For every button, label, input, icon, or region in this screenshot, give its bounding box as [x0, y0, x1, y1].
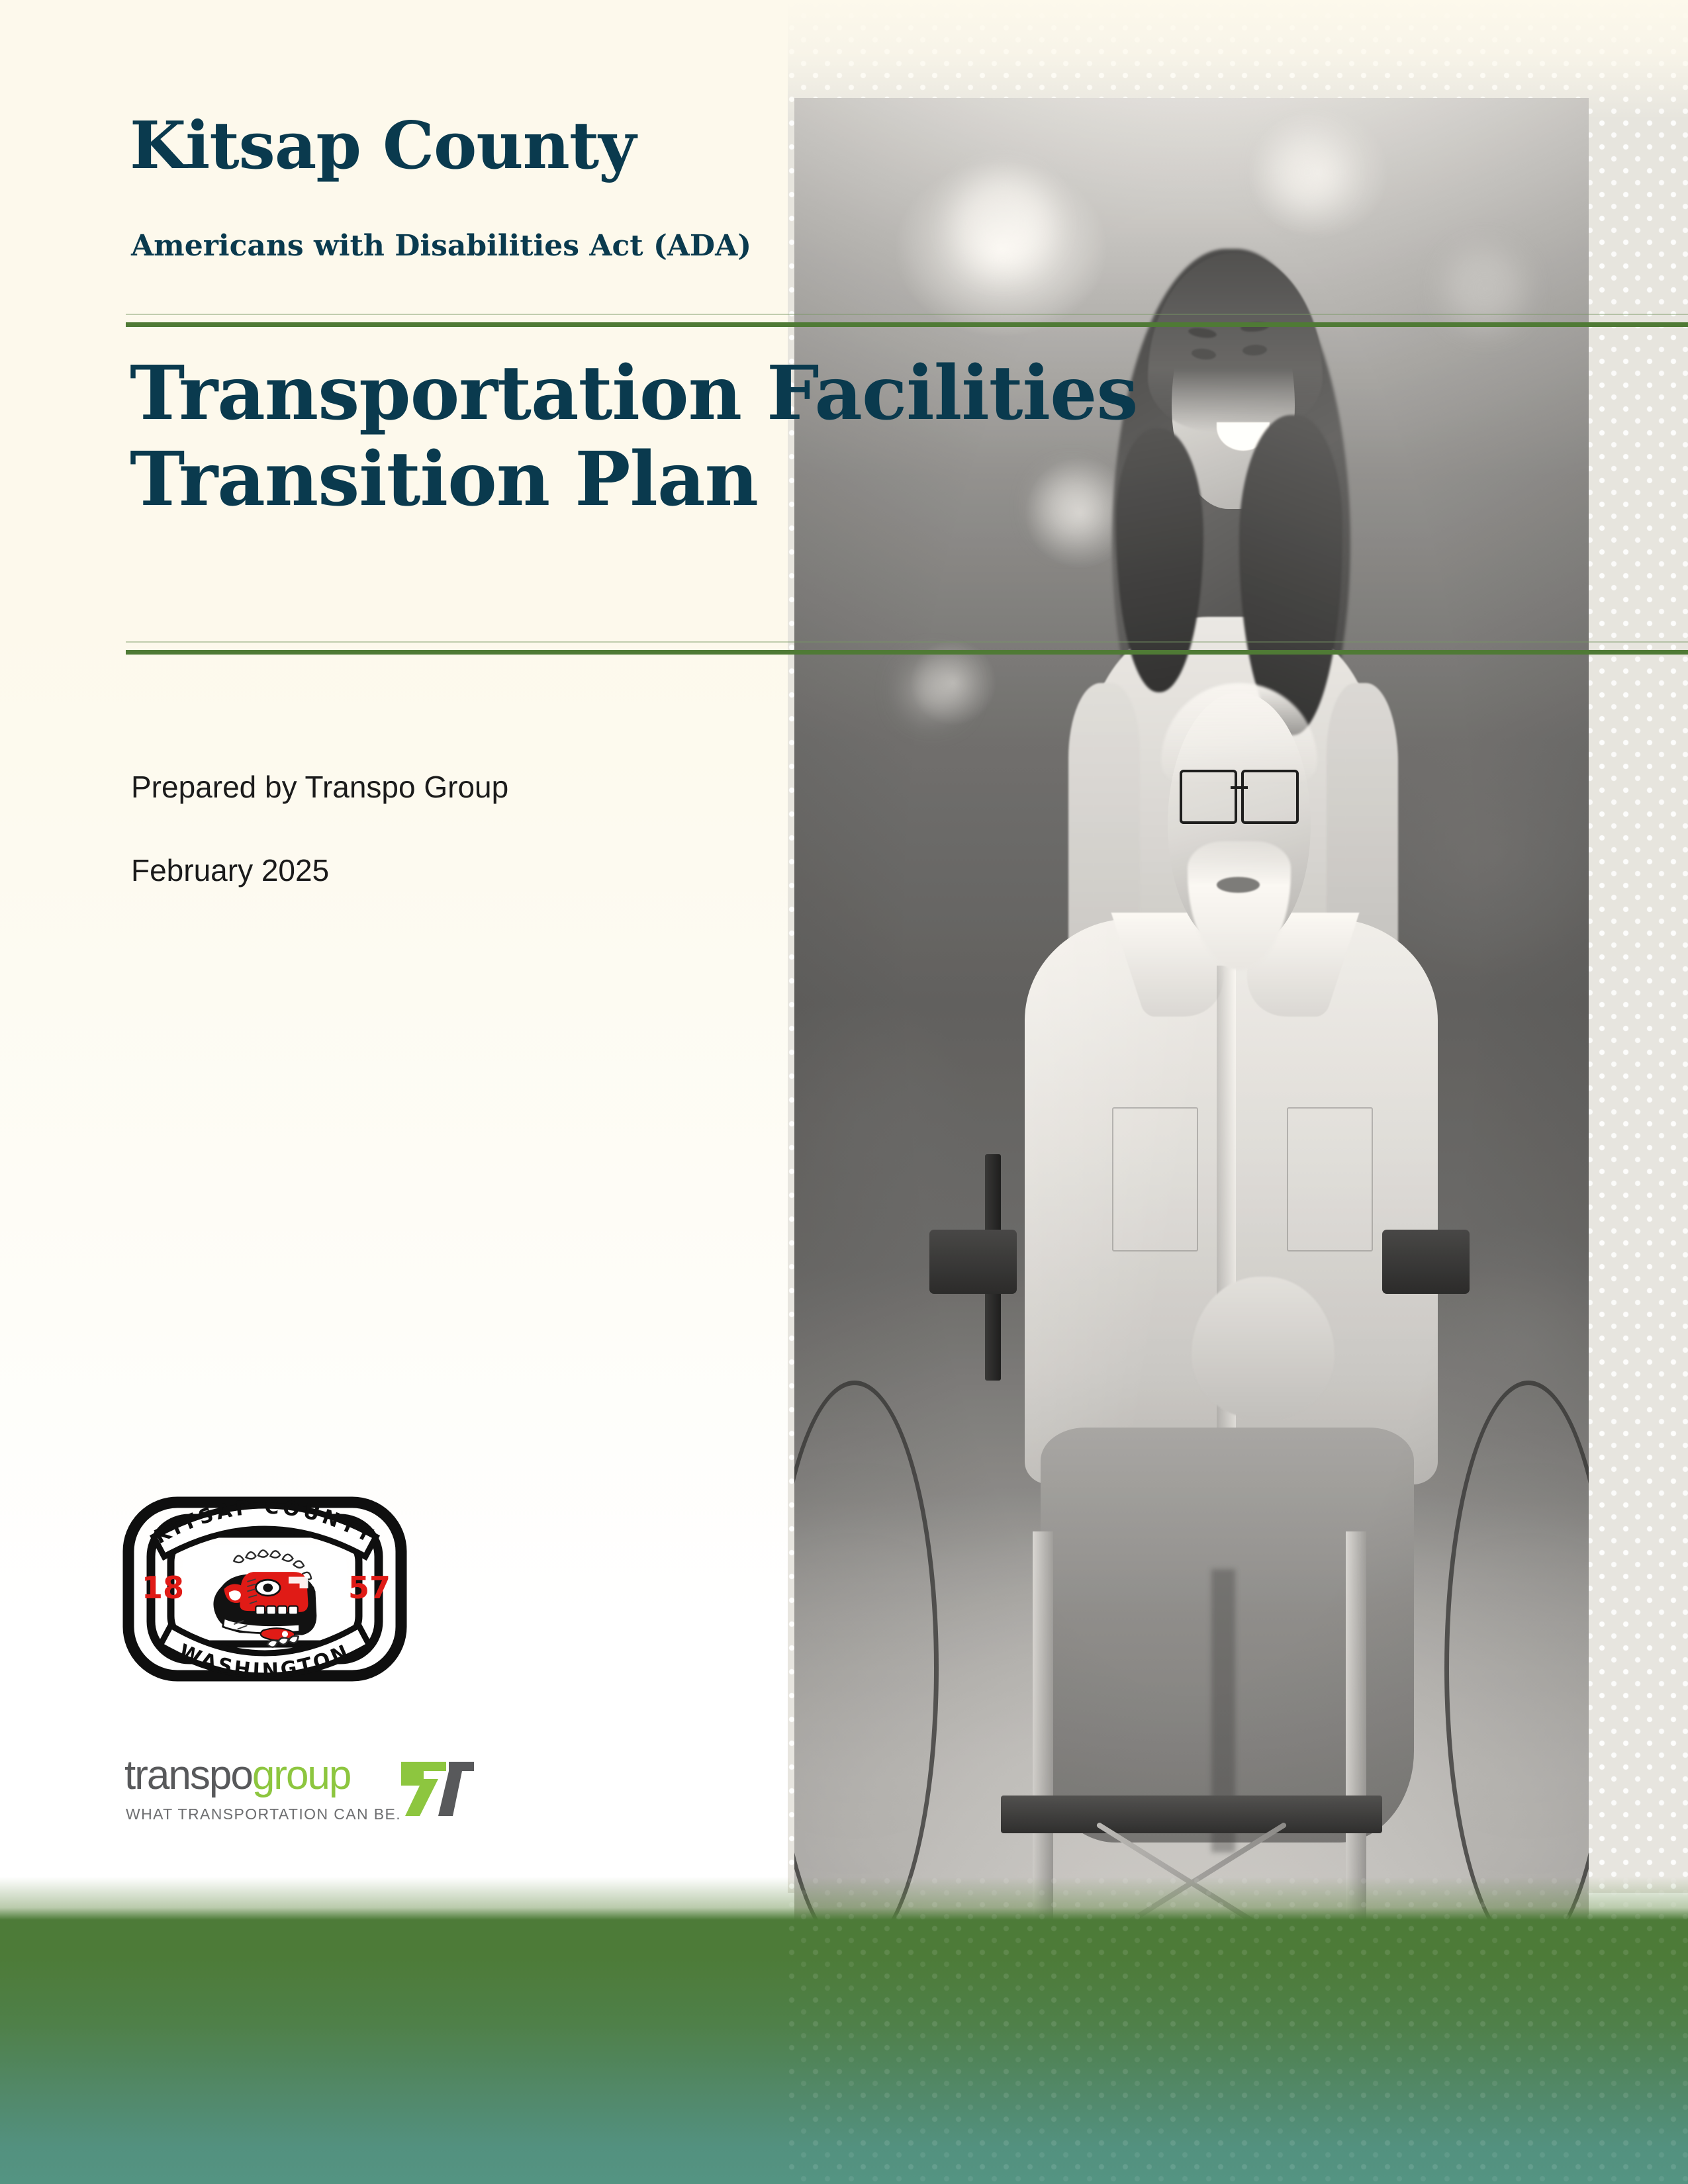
seal-year-left: 18	[142, 1570, 184, 1606]
footer-band-texture	[788, 1877, 1688, 2184]
document-date: February 2025	[131, 852, 329, 888]
kitsap-county-seal-logo: 18 57 KITSAP COUNTY WASHINGTON	[119, 1463, 410, 1714]
page-title-line-1: Transportation Facilities	[130, 350, 1137, 437]
divider-top-hairline	[126, 314, 1688, 315]
prepared-by-text: Prepared by Transpo Group	[131, 769, 508, 805]
transpo-group-wordmark: transpogroup	[124, 1755, 350, 1796]
document-subtitle: Americans with Disabilities Act (ADA)	[131, 232, 751, 261]
divider-top	[126, 322, 1688, 327]
page-title-line-2: Transition Plan	[130, 437, 1137, 523]
group-word: group	[252, 1752, 351, 1798]
transpo-group-logo: transpogroup WHAT TRANSPORTATION CAN BE.	[124, 1752, 482, 1832]
transpo-arrow-mark-icon	[397, 1756, 477, 1820]
seal-year-right: 57	[348, 1570, 391, 1606]
divider-middle	[126, 650, 1688, 655]
transpo-tagline: WHAT TRANSPORTATION CAN BE.	[126, 1805, 401, 1823]
divider-middle-hairline	[126, 641, 1688, 643]
agency-name: Kitsap County	[130, 114, 635, 179]
cover-page: Kitsap County Americans with Disabilitie…	[0, 0, 1688, 2184]
page-title: Transportation Facilities Transition Pla…	[130, 351, 1137, 523]
transpo-word: transpo	[124, 1752, 252, 1798]
